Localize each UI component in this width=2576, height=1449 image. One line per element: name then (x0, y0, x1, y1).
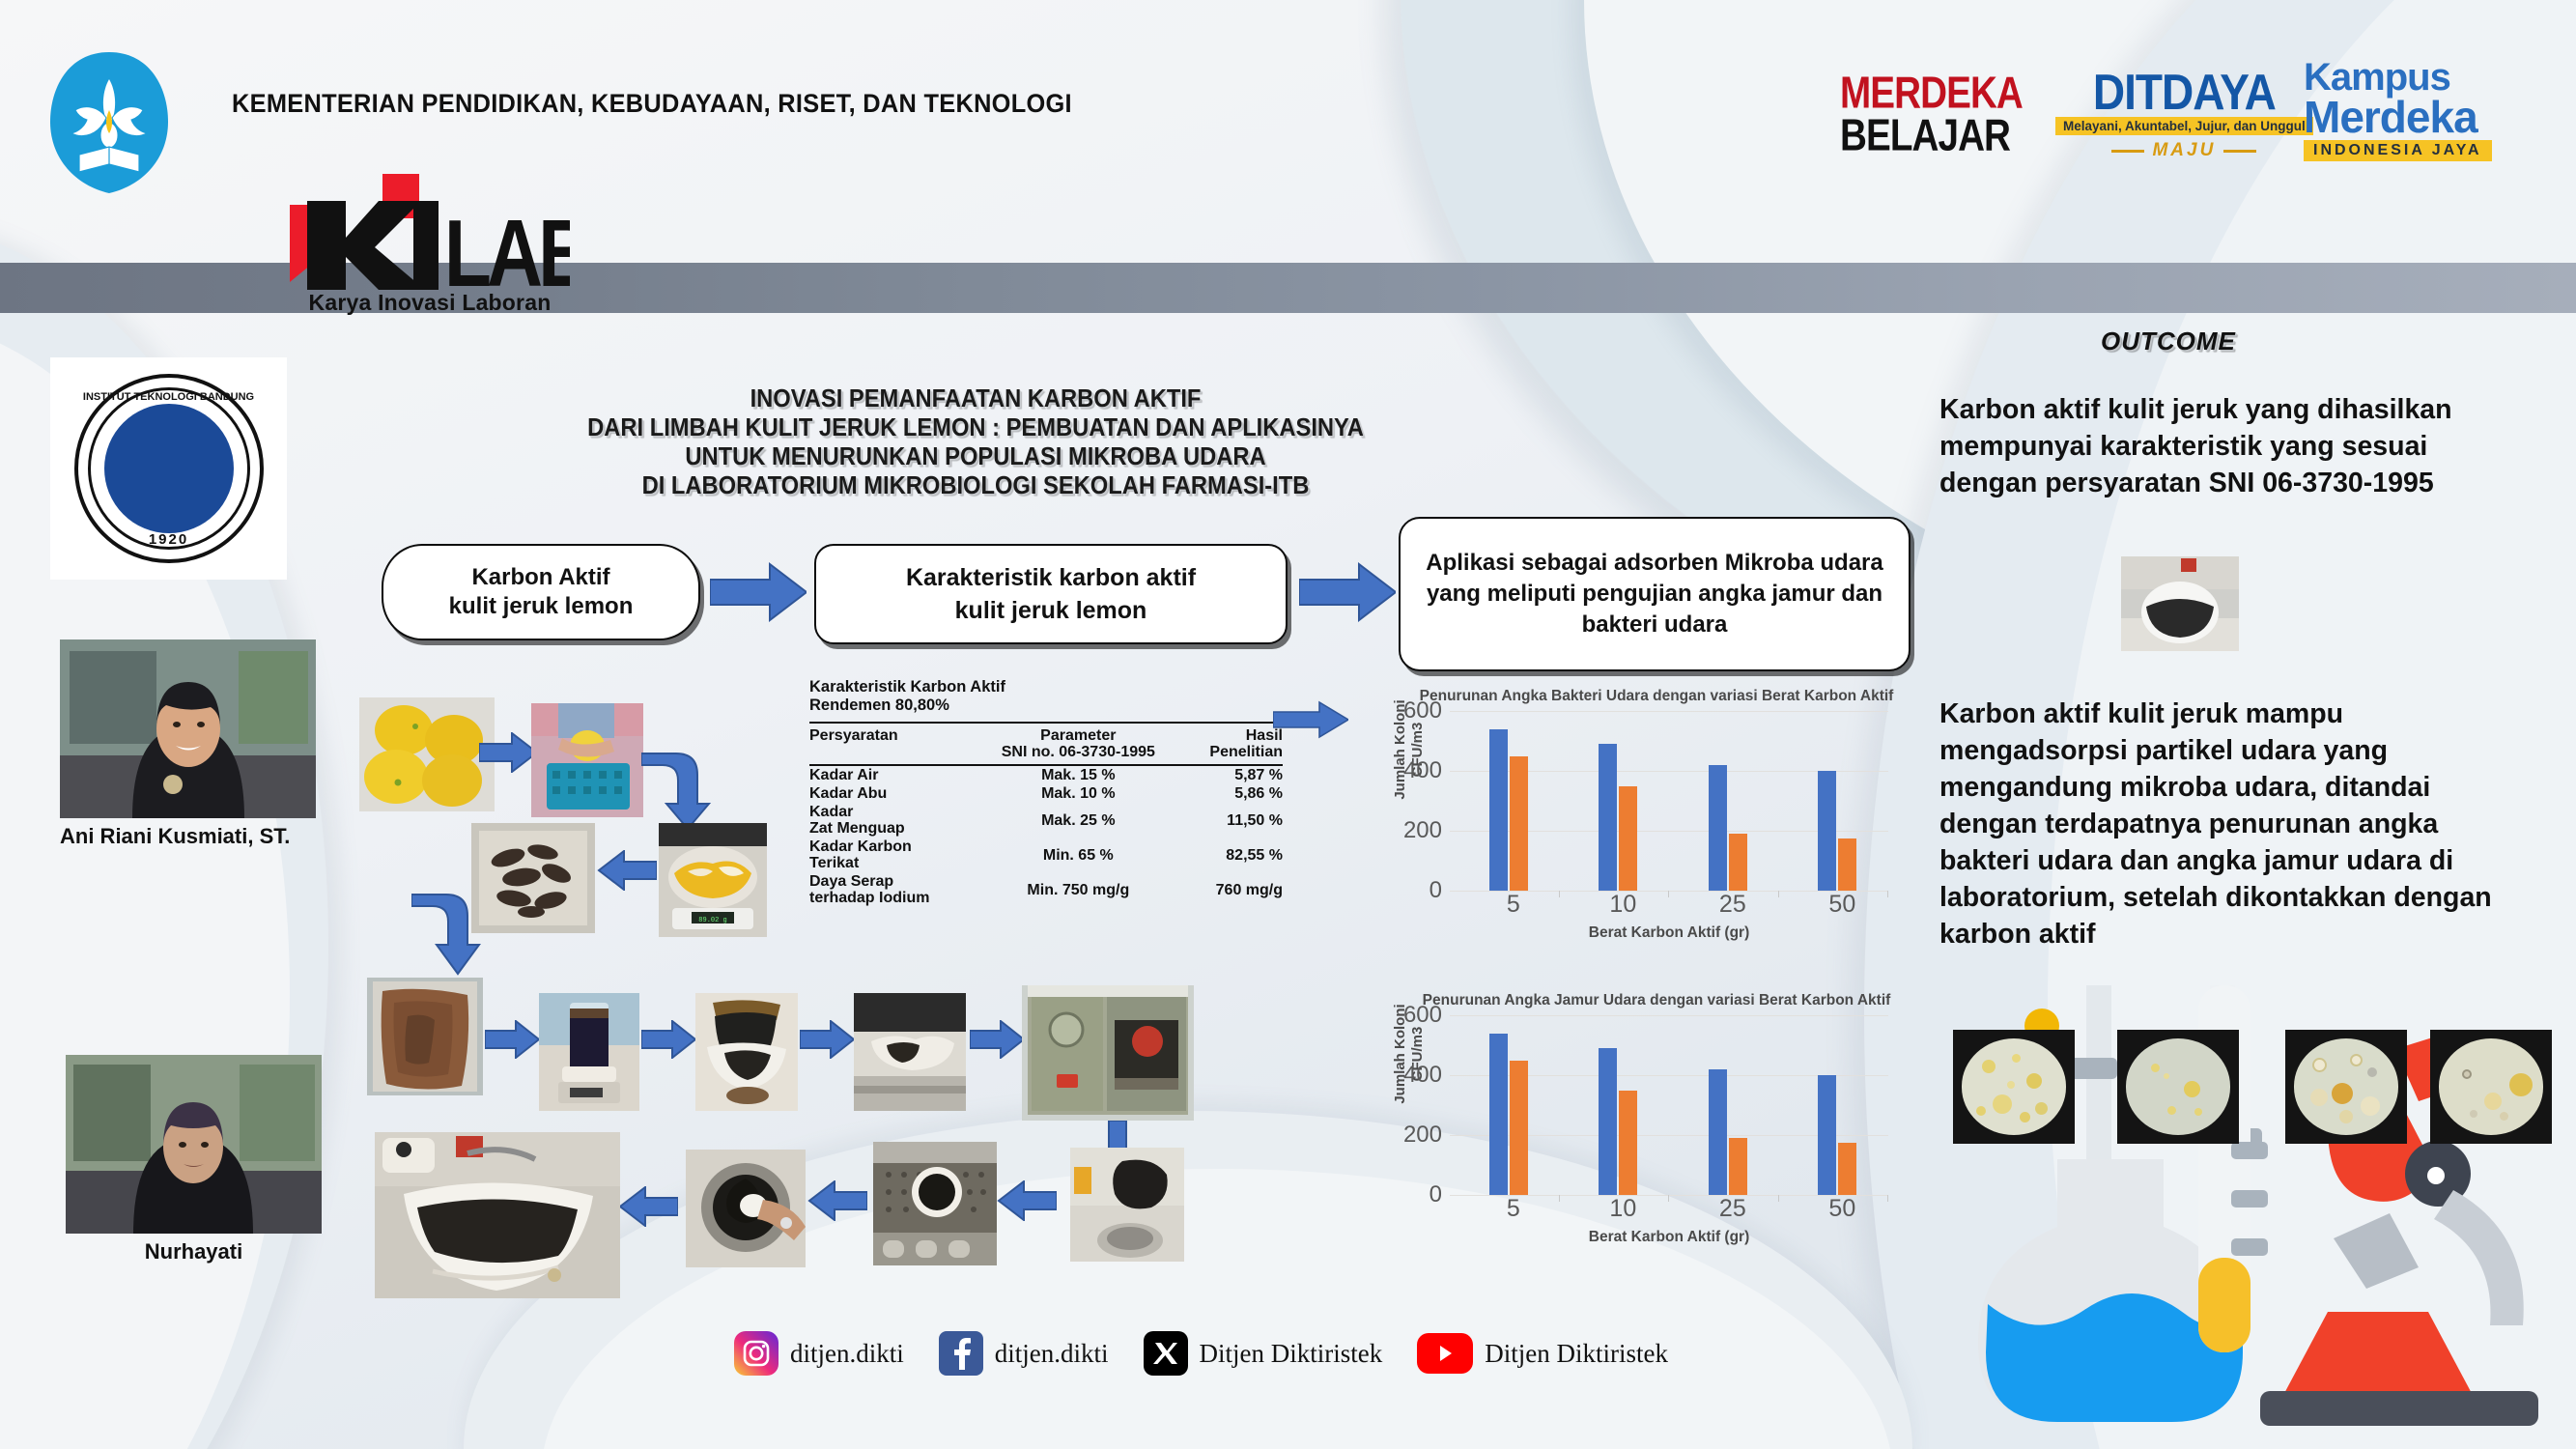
chart-bar (1510, 756, 1528, 892)
poster-canvas: KEMENTERIAN PENDIDIKAN, KEBUDAYAAN, RISE… (0, 0, 2576, 1449)
table-cell: Min. 65 % (974, 838, 1183, 872)
petri-dish-1 (1953, 1030, 2075, 1144)
social-label: ditjen.dikti (995, 1339, 1109, 1369)
flow-arrow-2-icon (1299, 562, 1396, 622)
table-cell: 5,86 % (1183, 784, 1283, 803)
kilab-tagline: Karya Inovasi Laboran (290, 290, 570, 316)
itb-year: 1920 (78, 531, 260, 548)
table-cell: Daya Serap terhadap Iodium (809, 872, 974, 907)
chart-bar (1838, 1143, 1856, 1195)
table-row: Kadar Karbon TerikatMin. 65 %82,55 % (809, 838, 1283, 872)
petri-dish-2 (2117, 1030, 2239, 1144)
kampus-text: Kampus (2304, 60, 2492, 96)
process-photo-oven-tray (854, 993, 966, 1111)
ditdaya-logo: DITDAYA Melayani, Akuntabel, Jujur, dan … (2055, 70, 2313, 161)
table-cell: Mak. 10 % (974, 784, 1183, 803)
kampus-merdeka-logo: Kampus Merdeka INDONESIA JAYA (2304, 60, 2492, 161)
flow-box-3-label: Aplikasi sebagai adsorben Mikroba udara … (1414, 548, 1895, 640)
flow-box-karakteristik: Karakteristik karbon aktif kulit jeruk l… (814, 544, 1288, 644)
chart-bars-region: 0200400600 (1450, 711, 1888, 892)
table-header-row: Persyaratan Parameter SNI no. 06-3730-19… (809, 723, 1283, 765)
chart-bar-group (1560, 1015, 1670, 1195)
person-name-1: Ani Riani Kusmiati, ST. (60, 824, 316, 849)
indonesia-jaya-text: INDONESIA JAYA (2304, 140, 2492, 161)
chart-y-tick: 0 (1430, 1181, 1442, 1208)
process-arrow-5-icon (485, 1020, 539, 1064)
flow-box-2-label: Karakteristik karbon aktif kulit jeruk l… (906, 561, 1196, 627)
chart-x-tick: 5 (1450, 1195, 1560, 1223)
x-twitter-icon[interactable] (1144, 1331, 1188, 1376)
chart-bar (1729, 1138, 1747, 1195)
flow-box-karbon-aktif: Karbon Aktif kulit jeruk lemon (382, 544, 700, 640)
ditdaya-rule-left (2111, 150, 2144, 153)
table-cell: Kadar Karbon Terikat (809, 838, 974, 872)
process-photo-dried-peels (471, 823, 595, 933)
chart-y-tick: 400 (1403, 757, 1442, 784)
chart-bar (1619, 1091, 1637, 1196)
table-row: Kadar AbuMak. 10 %5,86 % (809, 784, 1283, 803)
kilab-logo: LAB Karya Inovasi Laboran (290, 189, 570, 316)
table-row: Daya Serap terhadap IodiumMin. 750 mg/g7… (809, 872, 1283, 907)
chart-x-ticks: 5102550 (1450, 1195, 1888, 1223)
person-photo-1 (60, 639, 316, 818)
merdeka-belajar-logo: MERDEKA BELAJAR (1840, 75, 2038, 155)
chart-plot-area: Jumlah Koloni CFU/m302004006005102550Ber… (1357, 711, 1898, 919)
process-arrow-6-icon (641, 1020, 695, 1064)
social-item-youtube[interactable]: Ditjen Diktiristek (1417, 1333, 1668, 1374)
characteristics-title: Karakteristik Karbon Aktif Rendemen 80,8… (809, 678, 1283, 715)
table-cell: Kadar Abu (809, 784, 974, 803)
chart-bar (1838, 838, 1856, 891)
belajar-text: BELAJAR (1840, 114, 2023, 156)
flow-box-1-label: Karbon Aktif kulit jeruk lemon (449, 563, 634, 621)
petri-dish-4 (2430, 1030, 2552, 1144)
process-arrow-12-icon (618, 1186, 678, 1232)
process-photo-furnace (1022, 985, 1194, 1121)
process-photo-final-carbon (375, 1132, 620, 1298)
ditdaya-maju-text: MAJU (2152, 140, 2216, 161)
chart-y-tick: 200 (1403, 1122, 1442, 1149)
social-label: Ditjen Diktiristek (1485, 1339, 1668, 1369)
outcome-paragraph-1: Karbon aktif kulit jeruk yang dihasilkan… (1939, 391, 2519, 501)
characteristics-data-table: Persyaratan Parameter SNI no. 06-3730-19… (809, 722, 1283, 907)
process-photo-peeling (531, 703, 643, 817)
chart-bar-group (1779, 711, 1889, 891)
merdeka-text: MERDEKA (1840, 73, 2023, 112)
process-photo-weighing: 89.02 g (659, 823, 767, 937)
process-arrow-11-icon (807, 1180, 867, 1226)
process-arrow-4-icon (411, 885, 483, 982)
table-row: Kadar Zat MenguapMak. 25 %11,50 % (809, 803, 1283, 838)
person-card-2: Nurhayati (66, 1055, 322, 1264)
chart-bar (1599, 744, 1617, 891)
person-card-1: Ani Riani Kusmiati, ST. (60, 639, 316, 849)
chart-x-tick: 10 (1560, 1195, 1670, 1223)
chart-x-axis-label: Berat Karbon Aktif (gr) (1450, 1229, 1888, 1246)
chart-x-tick: 25 (1669, 891, 1779, 919)
process-arrow-10-icon (997, 1180, 1057, 1226)
outcome-heading: OUTCOME (2101, 327, 2236, 356)
facebook-icon[interactable] (939, 1331, 983, 1376)
chart-jamur: Penurunan Angka Jamur Udara dengan varia… (1357, 990, 1898, 1290)
chart-y-tick: 0 (1430, 877, 1442, 904)
chart-bar (1619, 786, 1637, 892)
chart-bar (1489, 1034, 1508, 1195)
table-row: Kadar AirMak. 15 %5,87 % (809, 765, 1283, 784)
flow-arrow-table-icon (1273, 700, 1348, 739)
table-cell: Kadar Zat Menguap (809, 803, 974, 838)
chart-y-tick: 600 (1403, 1002, 1442, 1029)
chart-bar (1729, 834, 1747, 891)
itb-name-text: INSTITUT TEKNOLOGI BANDUNG (78, 391, 260, 403)
person-photo-2 (66, 1055, 322, 1234)
chart-bar (1489, 729, 1508, 891)
petri-dish-3 (2285, 1030, 2407, 1144)
process-photo-filtering (695, 993, 798, 1111)
ditdaya-rule-right (2223, 150, 2256, 153)
itb-logo: INSTITUT TEKNOLOGI BANDUNG 1920 (50, 357, 287, 580)
characteristics-table: Karakteristik Karbon Aktif Rendemen 80,8… (809, 678, 1283, 907)
process-photo-handling (686, 1150, 806, 1267)
chart-bar (1709, 765, 1727, 891)
process-photo-sieving (873, 1142, 997, 1265)
col-persyaratan: Persyaratan (809, 723, 974, 765)
chart-x-axis-label: Berat Karbon Aktif (gr) (1450, 924, 1888, 942)
chart-x-tick: 50 (1779, 891, 1889, 919)
process-photo-cooling (1070, 1148, 1184, 1262)
ditdaya-maju-row: MAJU (2055, 140, 2313, 161)
chart-bar (1818, 1075, 1836, 1195)
chart-bar-group (1560, 711, 1670, 891)
chart-bakteri: Penurunan Angka Bakteri Udara dengan var… (1357, 686, 1898, 985)
youtube-icon[interactable] (1417, 1333, 1473, 1374)
chart-y-tick: 200 (1403, 817, 1442, 844)
table-cell: Min. 750 mg/g (974, 872, 1183, 907)
ditdaya-text: DITDAYA (2055, 67, 2313, 117)
table-cell: 5,87 % (1183, 765, 1283, 784)
person-name-2: Nurhayati (66, 1239, 322, 1264)
table-cell: Mak. 25 % (974, 803, 1183, 838)
chart-bar-group (1669, 1015, 1779, 1195)
svg-text:LAB: LAB (444, 200, 570, 290)
chart-bar-group (1779, 1015, 1889, 1195)
chart-bar (1510, 1061, 1528, 1196)
chart-bar-group (1450, 1015, 1560, 1195)
social-media-bar: ditjen.diktiditjen.diktiDitjen Diktirist… (734, 1331, 1693, 1376)
chart-x-tick: 5 (1450, 891, 1560, 919)
table-cell: Kadar Air (809, 765, 974, 784)
chart-bar-group (1669, 711, 1779, 891)
flow-box-aplikasi: Aplikasi sebagai adsorben Mikroba udara … (1399, 517, 1911, 671)
col-hasil: Hasil Penelitian (1183, 723, 1283, 765)
chart-y-tick: 400 (1403, 1062, 1442, 1089)
outcome-paragraph-2: Karbon aktif kulit jeruk mampu mengadsor… (1939, 696, 2519, 952)
chart-y-tick: 600 (1403, 697, 1442, 724)
flow-arrow-1-icon (710, 562, 807, 622)
chart-x-tick: 50 (1779, 1195, 1889, 1223)
kemdikbud-logo (46, 50, 172, 195)
social-label: ditjen.dikti (790, 1339, 904, 1369)
process-arrow-7-icon (800, 1020, 854, 1064)
process-photo-stirring (539, 993, 639, 1111)
chart-bar (1709, 1069, 1727, 1195)
process-arrow-8-icon (970, 1020, 1024, 1064)
social-item-facebook[interactable]: ditjen.dikti (939, 1331, 1109, 1376)
process-photo-lemons (359, 697, 495, 811)
instagram-icon[interactable] (734, 1331, 778, 1376)
chart-bar-group (1450, 711, 1560, 891)
chart-bar (1599, 1048, 1617, 1195)
process-photo-tray-carbon (367, 978, 483, 1095)
outcome-carbon-photo (2121, 556, 2239, 651)
chart-x-ticks: 5102550 (1450, 891, 1888, 919)
table-cell: 11,50 % (1183, 803, 1283, 838)
chart-bar (1818, 771, 1836, 891)
table-cell: 82,55 % (1183, 838, 1283, 872)
chart-x-tick: 10 (1560, 891, 1670, 919)
chart-bars-region: 0200400600 (1450, 1015, 1888, 1196)
social-item-instagram[interactable]: ditjen.dikti (734, 1331, 904, 1376)
chart-x-tick: 25 (1669, 1195, 1779, 1223)
page-title: INOVASI PEMANFAATAN KARBON AKTIF DARI LI… (518, 384, 1434, 500)
social-item-x-twitter[interactable]: Ditjen Diktiristek (1144, 1331, 1383, 1376)
process-arrow-3-icon (597, 850, 657, 895)
ministry-title: KEMENTERIAN PENDIDIKAN, KEBUDAYAAN, RISE… (232, 89, 1072, 119)
svg-text:89.02 g: 89.02 g (698, 917, 726, 924)
table-cell: Mak. 15 % (974, 765, 1183, 784)
col-parameter: Parameter SNI no. 06-3730-1995 (974, 723, 1183, 765)
table-cell: 760 mg/g (1183, 872, 1283, 907)
process-arrow-1-icon (479, 732, 537, 778)
merdeka2-text: Merdeka (2304, 96, 2492, 138)
chart-plot-area: Jumlah Koloni CFU/m302004006005102550Ber… (1357, 1015, 1898, 1223)
social-label: Ditjen Diktiristek (1200, 1339, 1383, 1369)
